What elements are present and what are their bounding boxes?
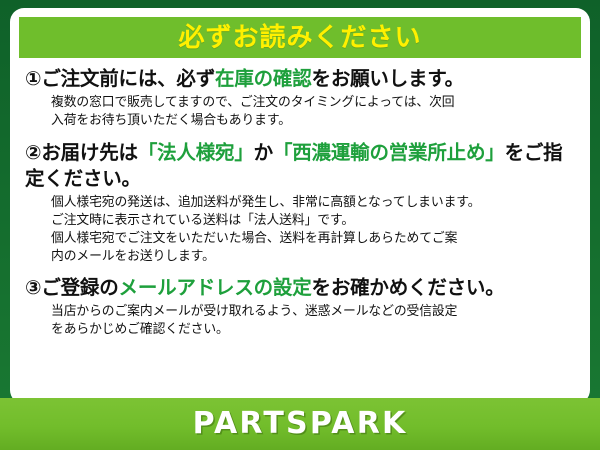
brand-logo: PARTSPARK xyxy=(193,409,408,439)
page-title: 必ずお読みください xyxy=(178,25,421,51)
notice-item-2-note-line-1: 個人様宅宛の発送は、追加送料が発生し、非常に高額となってしまいます。 xyxy=(51,194,575,212)
notice-panel: 必ずお読みください ①ご注文前には、必ず在庫の確認をお願いします。 複数の窓口で… xyxy=(10,8,590,404)
notice-item-1-note-line-2: 入荷をお待ち頂いただく場合もあります。 xyxy=(51,112,575,130)
notice-item-3-note-line-1: 当店からのご案内メールが受け取れるよう、迷惑メールなどの受信設定 xyxy=(51,303,575,321)
notice-item-2-note-line-3: 個人様宅宛でご注文をいただいた場合、送料を再計算しあらためてご案 xyxy=(51,230,575,248)
notice-item-2-note-line-4: 内のメールをお送りします。 xyxy=(51,248,575,266)
notice-item-3-heading-highlight: メールアドレスの設定 xyxy=(119,276,312,299)
notice-item-2-heading-highlight-2: 「西濃運輸の営業所止め」 xyxy=(273,141,505,164)
notice-item-1-note-line-1: 複数の窓口で販売してますので、ご注文のタイミングによっては、次回 xyxy=(51,94,575,112)
notice-item-2-heading-highlight-1: 「法人様宛」 xyxy=(138,141,254,164)
notice-item-2-note-line-2: ご注文時に表示されている送料は「法人送料」です。 xyxy=(51,212,575,230)
notice-frame: 必ずお読みください ①ご注文前には、必ず在庫の確認をお願いします。 複数の窓口で… xyxy=(0,0,600,450)
notice-item-1-heading-highlight: 在庫の確認 xyxy=(215,67,312,90)
notice-item-1-heading-part-3: をお願いします。 xyxy=(312,67,464,90)
notice-item-1-heading: ①ご注文前には、必ず在庫の確認をお願いします。 xyxy=(25,66,575,92)
notice-item-3-note: 当店からのご案内メールが受け取れるよう、迷惑メールなどの受信設定 をあらかじめご… xyxy=(51,303,575,339)
notice-item-2-heading-part-1: お届け先は xyxy=(41,141,138,164)
notice-item-2-heading-part-3: か xyxy=(254,141,273,164)
notice-item-1-note: 複数の窓口で販売してますので、ご注文のタイミングによっては、次回 入荷をお待ち頂… xyxy=(51,94,575,130)
notice-item-2-heading: ②お届け先は「法人様宛」か「西濃運輸の営業所止め」をご指定ください。 xyxy=(25,140,575,191)
notice-item-1-marker: ① xyxy=(25,67,41,90)
notice-body: ①ご注文前には、必ず在庫の確認をお願いします。 複数の窓口で販売してますので、ご… xyxy=(19,58,581,339)
notice-item-3-heading-part-1: ご登録の xyxy=(41,276,118,299)
footer-band: PARTSPARK xyxy=(0,398,600,450)
notice-item-3-heading: ③ご登録のメールアドレスの設定をお確かめください。 xyxy=(25,275,575,301)
notice-item-2: ②お届け先は「法人様宛」か「西濃運輸の営業所止め」をご指定ください。 個人様宅宛… xyxy=(25,140,575,266)
notice-header-band: 必ずお読みください xyxy=(19,17,581,58)
notice-item-3: ③ご登録のメールアドレスの設定をお確かめください。 当店からのご案内メールが受け… xyxy=(25,275,575,339)
notice-item-2-marker: ② xyxy=(25,141,41,164)
notice-item-2-note: 個人様宅宛の発送は、追加送料が発生し、非常に高額となってしまいます。 ご注文時に… xyxy=(51,194,575,267)
notice-item-3-note-line-2: をあらかじめご確認ください。 xyxy=(51,321,575,339)
notice-item-1-heading-part-1: ご注文前には、必ず xyxy=(41,67,215,90)
notice-item-1: ①ご注文前には、必ず在庫の確認をお願いします。 複数の窓口で販売してますので、ご… xyxy=(25,66,575,130)
notice-item-3-marker: ③ xyxy=(25,276,41,299)
notice-item-3-heading-part-3: をお確かめください。 xyxy=(312,276,505,299)
